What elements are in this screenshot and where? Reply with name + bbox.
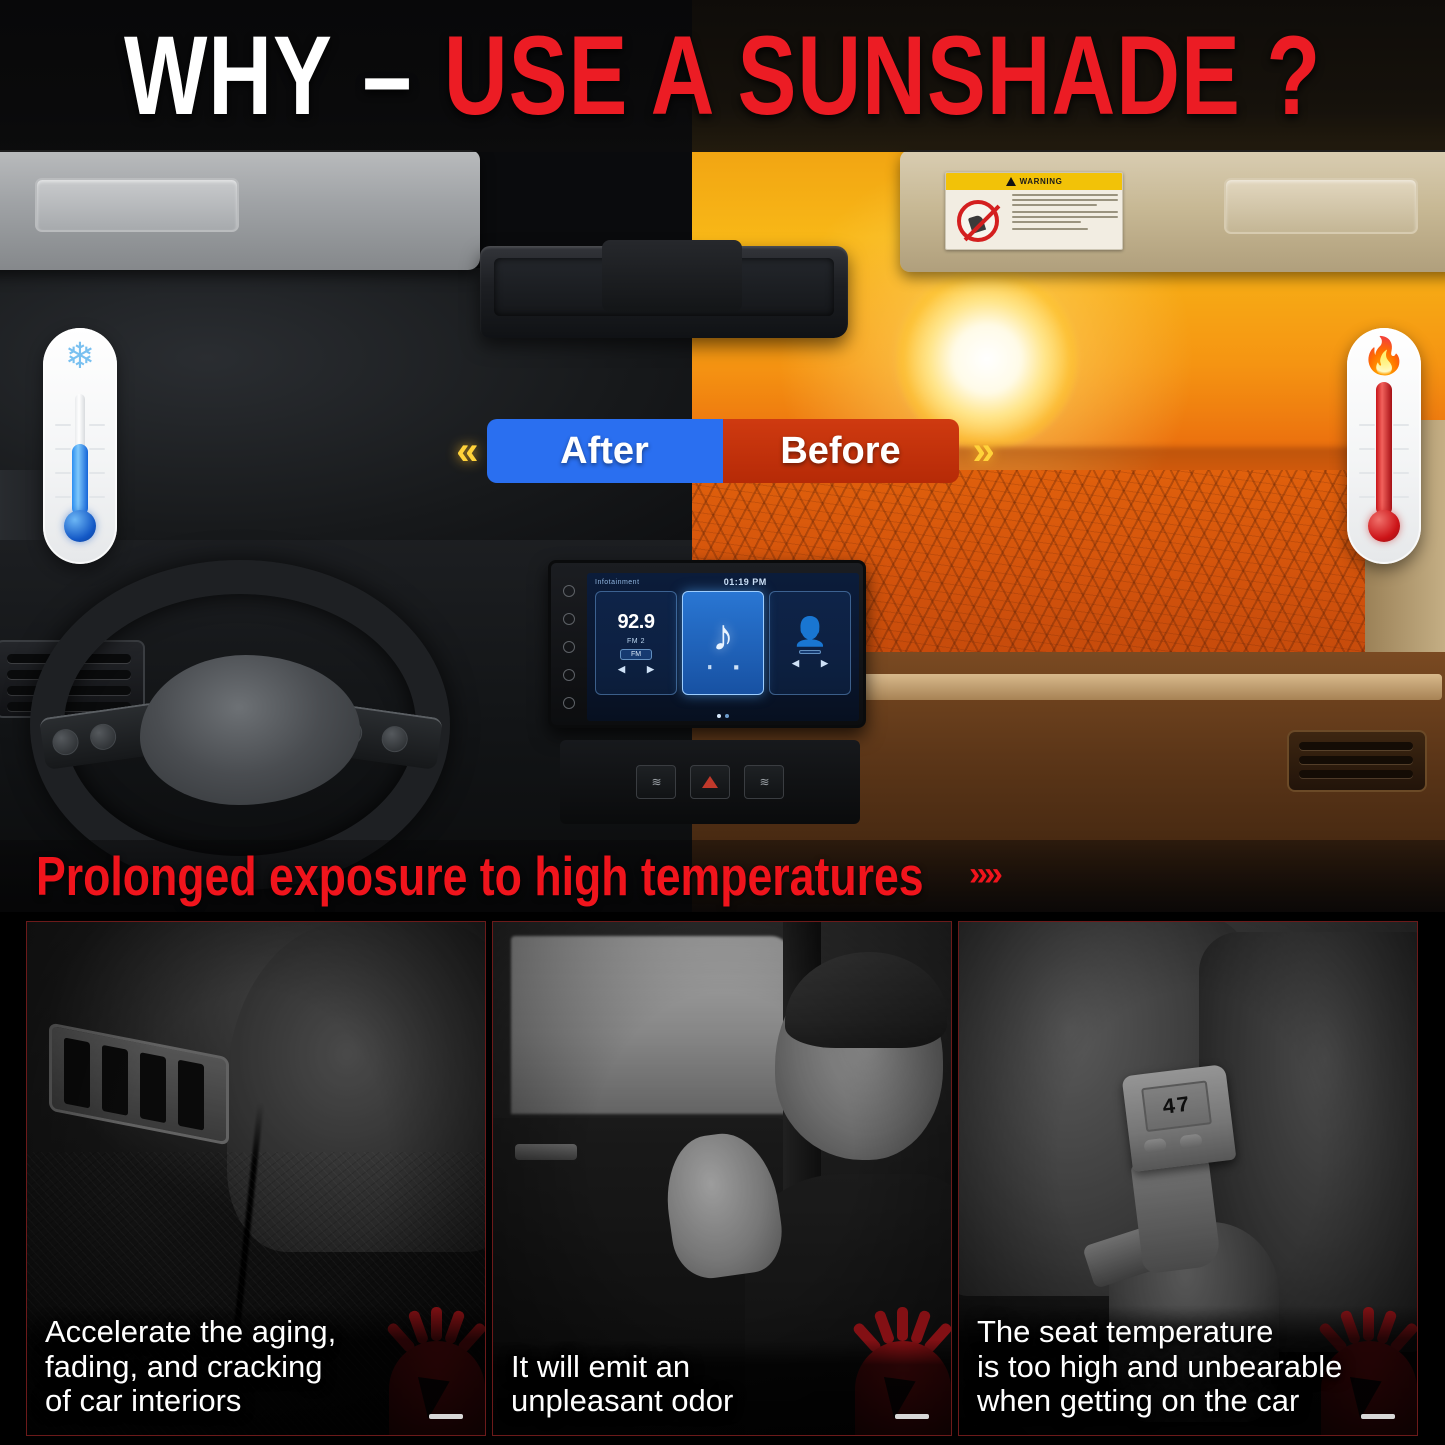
chevron-left-icon: « [456,431,472,471]
caption-line: when getting on the car [977,1384,1405,1419]
contact-prev-icon[interactable]: ◀ [792,658,799,669]
caption-underscore-1 [429,1414,463,1419]
radio-tile[interactable]: 92.9 FM 2 FM ◀ ▶ [595,591,677,695]
subheadline-arrows-icon: »» [969,855,999,894]
person-icon: 👤 [793,618,828,646]
hazard-triangle-icon [702,776,718,788]
flame-icon: 🔥 [1347,338,1421,374]
prohibition-circle-icon [957,200,999,242]
caption-line: fading, and cracking [45,1350,473,1385]
consequence-panels: Accelerate the aging, fading, and cracki… [0,912,1445,1445]
infotainment-head-unit: Infotainment 01:19 PM 92.9 FM 2 FM ◀ ▶ [548,560,866,728]
caption-line: Accelerate the aging, [45,1315,473,1350]
warning-label-body [946,190,1122,250]
media-tile[interactable]: ♪ ⏸ ⏹ [682,591,764,695]
rearview-mirror-housing [602,240,742,312]
heat-waves-icon: ≋ [651,775,660,789]
title-dash: – [357,14,419,138]
warning-label-header: WARNING [946,173,1122,190]
radio-next-icon[interactable]: ▶ [647,664,654,675]
warning-triangle-icon [1006,177,1016,186]
panel-caption-2: It will emit an unpleasant odor [493,1340,952,1435]
head-unit-brand: Infotainment [595,579,640,586]
head-unit-side-buttons[interactable] [556,577,582,717]
media-stop-icon[interactable]: ⏹ [734,662,739,673]
contact-next-icon[interactable]: ▶ [821,658,828,669]
warning-label-text-lines [1010,190,1122,250]
snowflake-icon: ❄ [43,338,117,374]
radio-source-chip[interactable]: FM [620,649,652,660]
panel-hot-seat-temperature: 47 The seat temperature is too high and … [958,921,1418,1436]
sun-visor-left [0,150,480,270]
contact-nav[interactable]: ◀ ▶ [792,658,828,669]
head-unit-tiles: 92.9 FM 2 FM ◀ ▶ ♪ ⏸ ⏹ [587,591,859,695]
visor-warning-label: WARNING [945,172,1123,250]
dashboard-trim [842,674,1442,700]
steering-wheel [30,560,450,860]
phone-contact-tile[interactable]: 👤 ◀ ▶ [769,591,851,695]
thermometer-bulb-hot [1368,510,1400,542]
subheadline-text: Prolonged exposure to high temperatures [36,849,924,903]
radio-band: FM 2 [627,638,645,645]
seat-heater-right-button[interactable]: ≋ [744,765,784,799]
caption-line: of car interiors [45,1384,473,1419]
panel-dashboard-cracking: Accelerate the aging, fading, and cracki… [26,921,486,1436]
infographic-page: WARNING [0,0,1445,1445]
radio-frequency: 92.9 [618,611,655,634]
caption-line: is too high and unbearable [977,1350,1405,1385]
head-unit-status-bar: Infotainment 01:19 PM [587,573,859,591]
caption-line: The seat temperature [977,1315,1405,1350]
headline-band: WHY – USE A SUNSHADE ? [0,0,1445,152]
before-badge: Before [723,419,959,483]
air-vent-right [1287,730,1427,792]
caption-underscore-2 [895,1414,929,1419]
head-unit-clock: 01:19 PM [724,577,767,587]
before-after-badges: « After Before » [0,415,1445,487]
no-child-seat-sign [946,190,1010,250]
rearview-mirror [480,246,848,338]
contact-chip[interactable] [799,650,821,654]
heat-waves-icon-2: ≋ [759,775,768,789]
center-console-controls[interactable]: ≋ ≋ [560,740,860,824]
media-pause-icon[interactable]: ⏸ [707,662,712,673]
thermometer-bulb-cold [64,510,96,542]
seat-heater-left-button[interactable]: ≋ [636,765,676,799]
page-indicator-dots [587,714,859,718]
panel-unpleasant-odor: It will emit an unpleasant odor [492,921,952,1436]
title-rest: USE A SUNSHADE ? [444,14,1321,138]
head-unit-screen[interactable]: Infotainment 01:19 PM 92.9 FM 2 FM ◀ ▶ [587,573,859,721]
media-transport-controls[interactable]: ⏸ ⏹ [707,662,738,673]
child-seat-icon [968,214,986,234]
page-title: WHY – USE A SUNSHADE ? [124,20,1321,132]
after-badge: After [487,419,723,483]
hazard-lights-button[interactable] [690,765,730,799]
radio-prev-icon[interactable]: ◀ [618,664,625,675]
caption-underscore-3 [1361,1414,1395,1419]
music-note-icon: ♪ [712,614,734,658]
panel-caption-1: Accelerate the aging, fading, and cracki… [27,1305,486,1435]
panel-caption-3: The seat temperature is too high and unb… [959,1305,1418,1435]
radio-nav[interactable]: ◀ ▶ [618,664,654,675]
warning-label-word: WARNING [1020,177,1063,186]
subheadline-bar: Prolonged exposure to high temperatures … [0,840,1445,912]
caption-line: unpleasant odor [511,1384,939,1419]
title-why: WHY [124,14,331,138]
caption-line: It will emit an [511,1350,939,1385]
hero-comparison-section: WARNING [0,0,1445,912]
chevron-right-icon: » [973,431,989,471]
